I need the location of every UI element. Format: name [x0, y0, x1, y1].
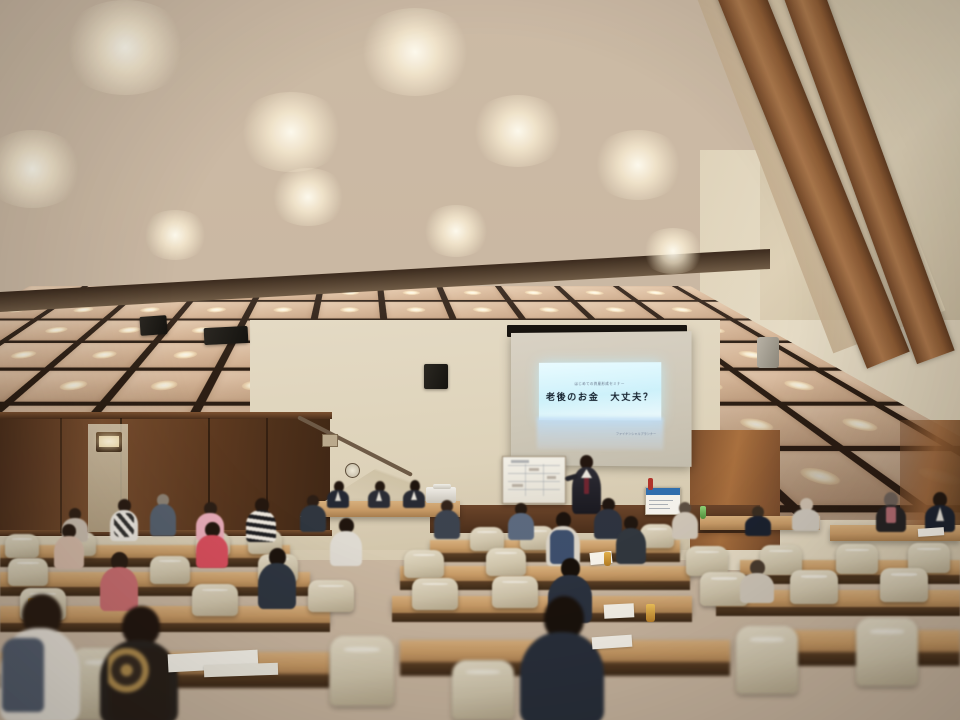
attendee [100, 552, 138, 608]
projected-slide: はじめての資産形成セミナー 老後のお金 大丈夫？ [539, 362, 661, 420]
attendee [258, 548, 296, 606]
recessed-downlight [420, 205, 492, 257]
staff-member [327, 481, 349, 505]
recessed-downlight [60, 0, 190, 95]
attendee [110, 499, 138, 539]
audience-chair [5, 534, 39, 558]
audience-chair [836, 544, 878, 574]
recessed-downlight [402, 291, 420, 295]
wall-clock [345, 463, 360, 478]
projection-screen: はじめての資産形成セミナー 老後のお金 大丈夫？ ファイナンシャルプランナー [511, 331, 692, 467]
projector-top [433, 484, 451, 489]
staff-member [403, 480, 425, 505]
recessed-downlight [590, 130, 686, 200]
audience-chair [452, 660, 514, 720]
recessed-downlight [140, 210, 210, 260]
wall-trim [0, 412, 332, 419]
wall-speaker [757, 337, 779, 368]
seminar-hall-photo: はじめての資産形成セミナー 老後のお金 大丈夫？ ファイナンシャルプランナー [0, 0, 960, 720]
recessed-downlight [406, 307, 426, 312]
attendee [925, 492, 955, 530]
attendee [300, 495, 326, 529]
audience-table [0, 545, 290, 559]
staff-member [368, 481, 390, 505]
attendee [196, 522, 228, 566]
attendee [740, 560, 774, 600]
water-bottle [700, 506, 706, 519]
wall-sconce [96, 432, 122, 452]
whiteboard [502, 456, 566, 504]
audience-chair [736, 626, 798, 694]
handout-paper [604, 603, 635, 619]
attendee [0, 594, 80, 720]
wall-speaker [424, 364, 448, 389]
sconce-lamp [99, 436, 119, 447]
attendee [546, 512, 580, 564]
recessed-downlight [355, 8, 475, 96]
water-bottle [646, 604, 655, 622]
audience-chair [150, 556, 190, 584]
recessed-downlight [468, 95, 568, 167]
attendee [520, 596, 604, 720]
attendee [616, 516, 646, 562]
attendee [876, 492, 906, 530]
audience-chair [486, 548, 526, 576]
attendee [246, 498, 276, 540]
sign-marker [648, 478, 653, 490]
recessed-downlight [268, 168, 348, 226]
audience-chair [880, 568, 928, 602]
attendee [508, 503, 534, 537]
wall-plaque [322, 434, 338, 447]
attendee [434, 500, 460, 536]
attendee [672, 502, 698, 536]
audience-chair [404, 550, 444, 578]
audience-chair [308, 580, 354, 612]
wall-speaker [204, 326, 249, 345]
slide-subtitle: はじめての資産形成セミナー [575, 380, 625, 385]
wall-speaker [139, 315, 167, 336]
water-bottle [604, 552, 611, 566]
slide-title: 老後のお金 大丈夫？ [546, 389, 654, 402]
audience-chair [192, 584, 238, 616]
attendee [54, 524, 84, 566]
attendee [792, 498, 820, 528]
attendee [150, 494, 176, 534]
audience-chair [8, 558, 48, 586]
slide-footer: ファイナンシャルプランナー [616, 432, 656, 436]
recessed-downlight [340, 307, 359, 312]
attendee [330, 518, 362, 564]
audience-chair [330, 636, 394, 706]
handout-paper [204, 663, 278, 678]
recessed-downlight [0, 130, 85, 208]
audience-chair [856, 618, 918, 686]
recessed-downlight [235, 92, 347, 172]
audience-chair [790, 570, 838, 604]
attendee [100, 606, 178, 720]
audience-chair [412, 578, 458, 610]
attendee [745, 506, 771, 532]
